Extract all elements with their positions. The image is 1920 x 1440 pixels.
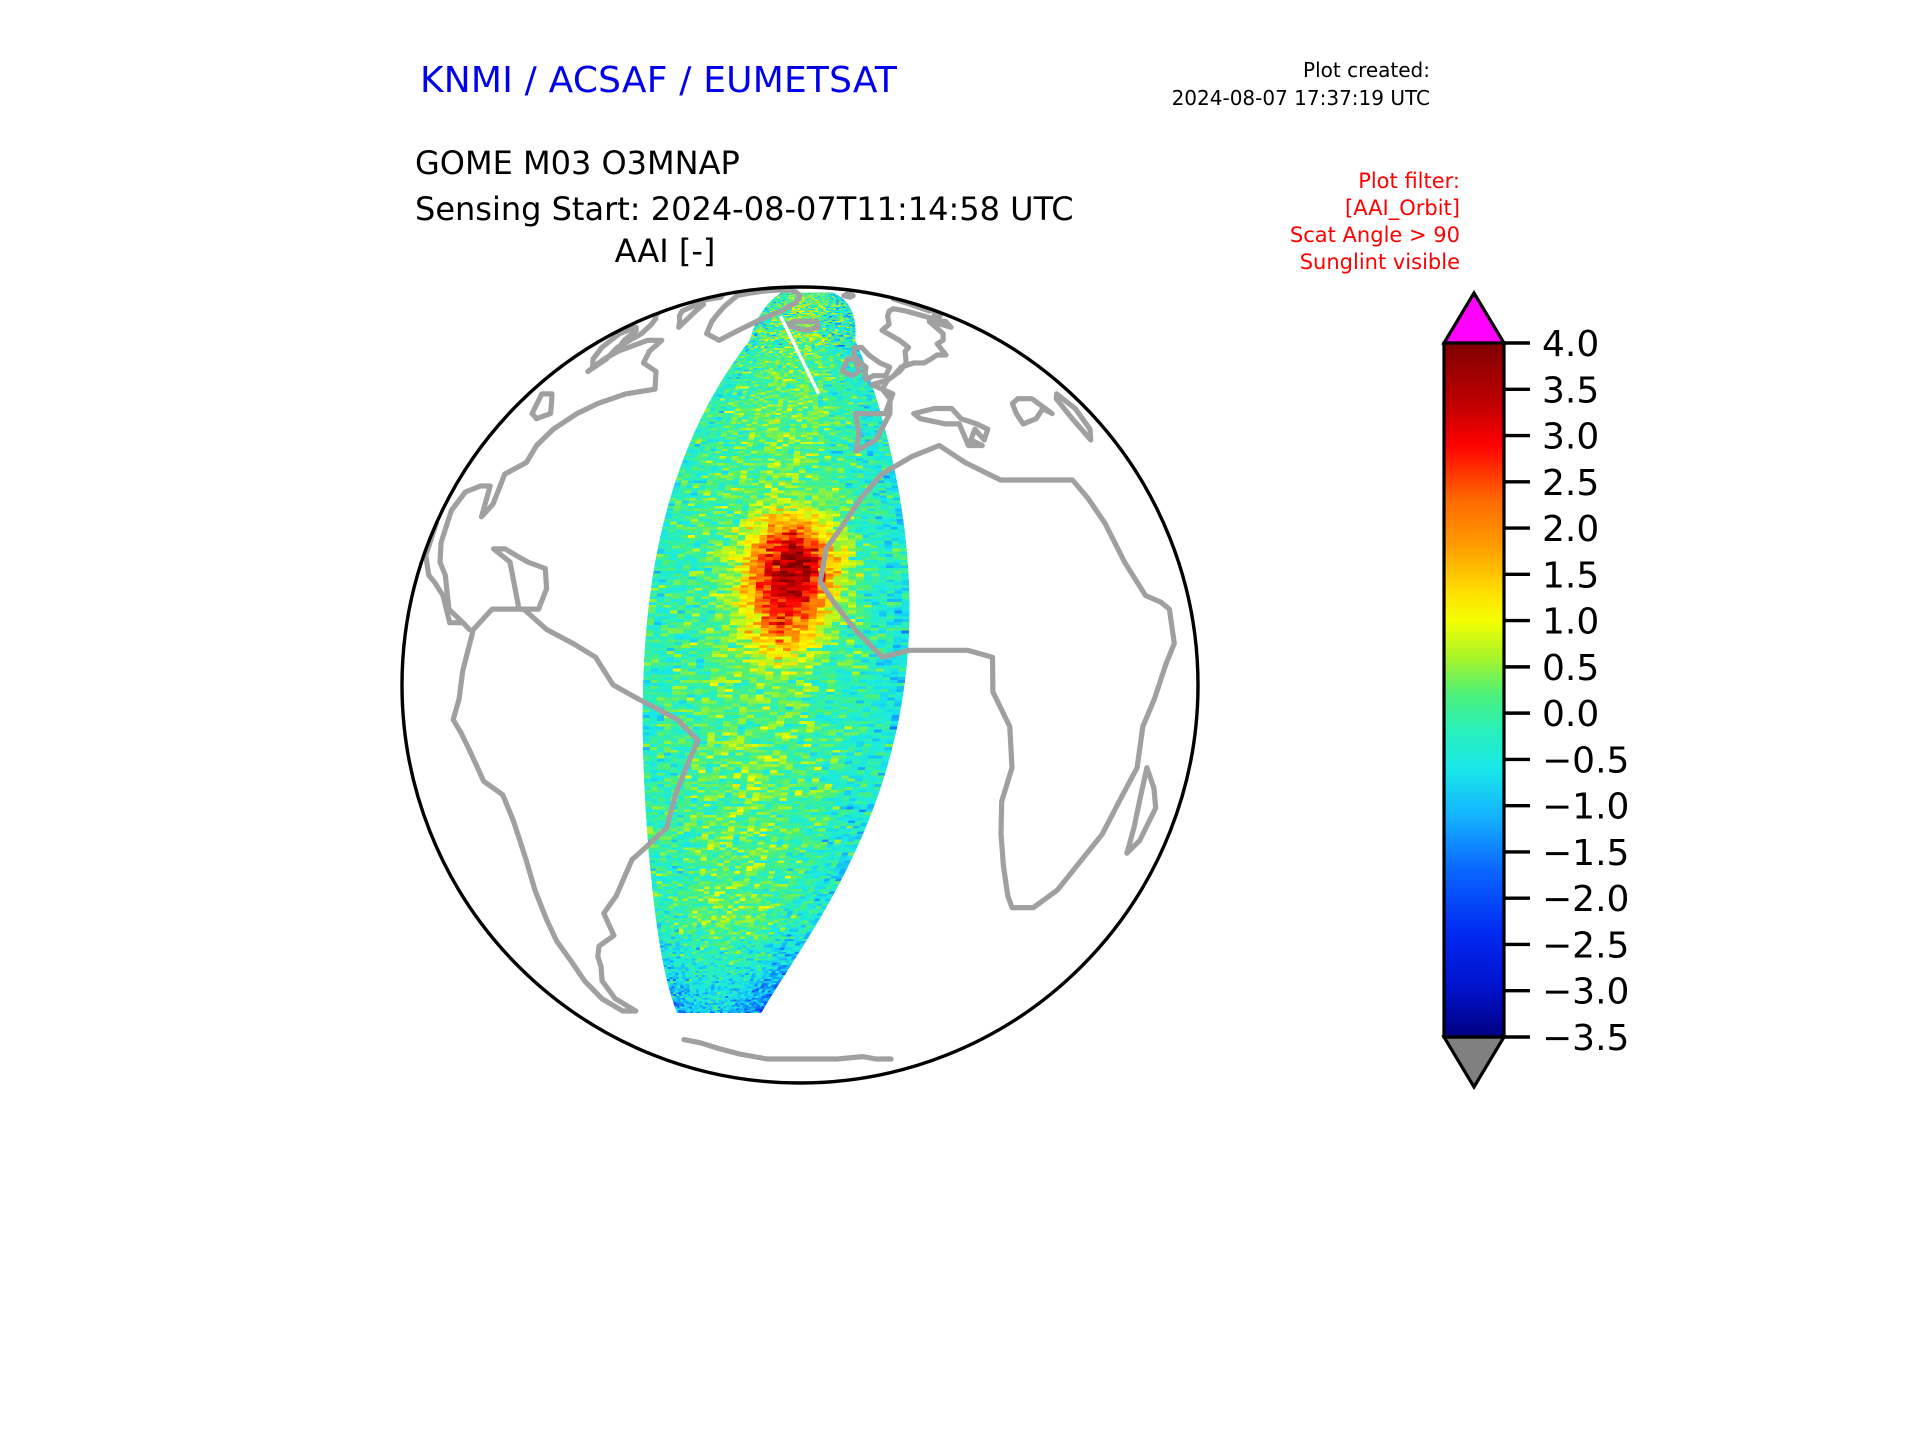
colorbar-tick-label: 0.0 <box>1542 694 1599 735</box>
colorbar-tick-labels: 4.03.53.02.52.01.51.00.50.0−0.5−1.0−1.5−… <box>1542 324 1629 1059</box>
colorbar-tick-label: 0.5 <box>1542 648 1599 689</box>
quantity-label-row: AAI [-] <box>0 232 1450 270</box>
colorbar-tick-label: 1.5 <box>1542 555 1599 596</box>
colorbar-tick-label: −2.0 <box>1542 879 1629 920</box>
colorbar-tick-label: −2.5 <box>1542 925 1629 966</box>
plot-filter-line-0: [AAI_Orbit] <box>1140 195 1460 222</box>
colorbar-ticks <box>1504 343 1530 1037</box>
colorbar-tick-label: −1.0 <box>1542 787 1629 828</box>
plot-created-block: Plot created: 2024-08-07 17:37:19 UTC <box>1100 56 1430 112</box>
colorbar-tick-label: 3.0 <box>1542 417 1599 458</box>
plot-filter-title: Plot filter: <box>1140 168 1460 195</box>
colorbar-tick-label: 4.0 <box>1542 324 1599 365</box>
colorbar-under-arrow <box>1444 1037 1504 1087</box>
quantity-label: AAI [-] <box>615 232 716 270</box>
organisation-title: KNMI / ACSAF / EUMETSAT <box>420 60 897 101</box>
coastline-path <box>844 293 853 297</box>
colorbar-panel: 4.03.53.02.52.01.51.00.50.0−0.5−1.0−1.5−… <box>1430 285 1750 1095</box>
colorbar-over-arrow <box>1444 293 1504 343</box>
sensing-start-line: Sensing Start: 2024-08-07T11:14:58 UTC <box>415 186 1074 232</box>
instrument-line: GOME M03 O3MNAP <box>415 140 1074 186</box>
product-title-block: GOME M03 O3MNAP Sensing Start: 2024-08-0… <box>415 140 1074 232</box>
colorbar-tick-label: −1.5 <box>1542 833 1629 874</box>
plot-created-label: Plot created: <box>1100 56 1430 84</box>
colorbar-tick-label: 1.0 <box>1542 602 1599 643</box>
colorbar: 4.03.53.02.52.01.51.00.50.0−0.5−1.0−1.5−… <box>1430 285 1750 1095</box>
colorbar-tick-label: 2.5 <box>1542 463 1599 504</box>
colorbar-tick-label: −0.5 <box>1542 740 1629 781</box>
orthographic-globe <box>395 280 1205 1090</box>
plot-created-value: 2024-08-07 17:37:19 UTC <box>1100 84 1430 112</box>
colorbar-tick-label: 2.0 <box>1542 509 1599 550</box>
map-panel <box>395 280 1205 1090</box>
colorbar-tick-label: −3.0 <box>1542 972 1629 1013</box>
colorbar-gradient-body <box>1444 343 1504 1037</box>
colorbar-tick-label: 3.5 <box>1542 370 1599 411</box>
colorbar-tick-label: −3.5 <box>1542 1018 1629 1059</box>
